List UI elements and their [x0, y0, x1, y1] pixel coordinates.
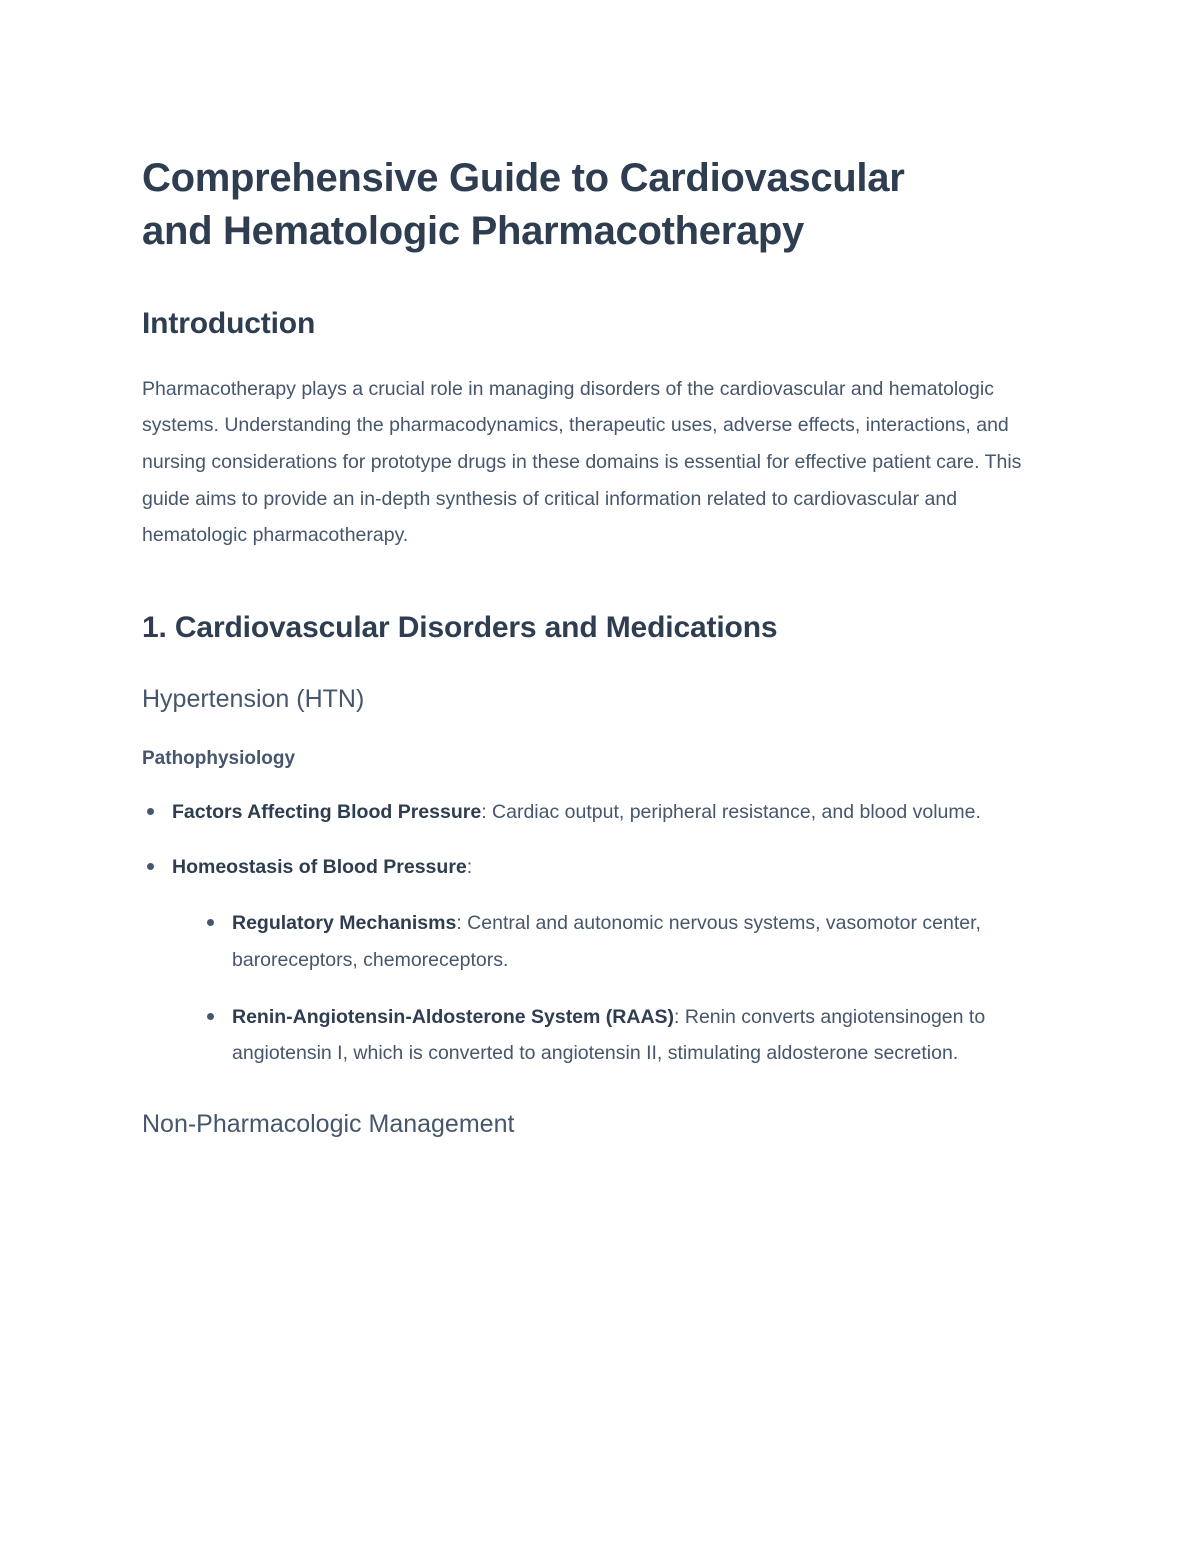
heading-pathophysiology: Pathophysiology — [142, 747, 1067, 772]
heading-introduction: Introduction — [142, 304, 1067, 343]
list-item-term: Renin-Angiotensin-Aldosterone System (RA… — [232, 1006, 674, 1028]
list-item-term: Homeostasis of Blood Pressure — [172, 856, 467, 878]
pathophysiology-bullet-list: Factors Affecting Blood Pressure: Cardia… — [142, 794, 1067, 1072]
list-item: Renin-Angiotensin-Aldosterone System (RA… — [202, 999, 1067, 1072]
list-item: Regulatory Mechanisms: Central and auton… — [202, 905, 1067, 978]
bullet-dot-icon — [147, 808, 154, 815]
bullet-dot-icon — [207, 1013, 214, 1020]
heading-hypertension: Hypertension (HTN) — [142, 683, 1067, 716]
heading-non-pharmacologic-management: Non-Pharmacologic Management — [142, 1108, 1067, 1141]
list-item: Factors Affecting Blood Pressure: Cardia… — [142, 794, 1067, 831]
list-item-text: Cardiac output, peripheral resistance, a… — [492, 801, 981, 823]
list-item-term: Factors Affecting Blood Pressure — [172, 801, 481, 823]
list-item-separator: : — [456, 912, 467, 934]
document-page: Comprehensive Guide to Cardiovascular an… — [0, 0, 1200, 1553]
document-body: Comprehensive Guide to Cardiovascular an… — [142, 152, 1067, 1141]
heading-section-one: 1. Cardiovascular Disorders and Medicati… — [142, 608, 1067, 647]
list-item-separator: : — [674, 1006, 685, 1028]
page-title: Comprehensive Guide to Cardiovascular an… — [142, 152, 922, 258]
bullet-dot-icon — [207, 919, 214, 926]
list-item-separator: : — [481, 801, 492, 823]
list-item-separator: : — [467, 856, 472, 878]
bullet-dot-icon — [147, 863, 154, 870]
nested-bullet-list: Regulatory Mechanisms: Central and auton… — [172, 905, 1067, 1072]
list-item: Homeostasis of Blood Pressure: Regulator… — [142, 849, 1067, 1072]
list-item-term: Regulatory Mechanisms — [232, 912, 456, 934]
introduction-paragraph: Pharmacotherapy plays a crucial role in … — [142, 371, 1067, 554]
